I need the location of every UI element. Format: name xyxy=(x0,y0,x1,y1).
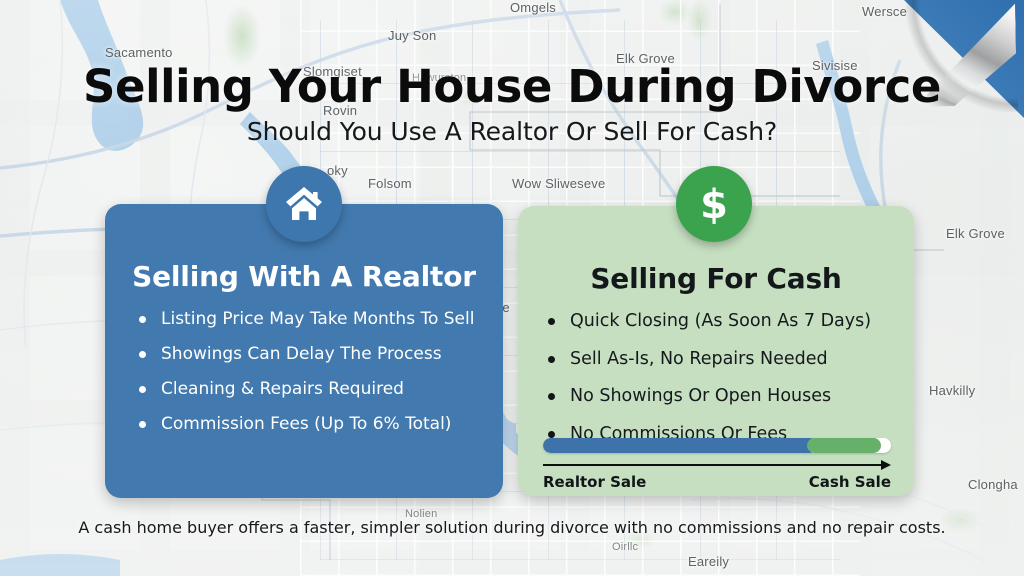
house-icon xyxy=(284,185,324,223)
list-item: Commission Fees (Up To 6% Total) xyxy=(135,416,485,433)
footer-note: A cash home buyer offers a faster, simpl… xyxy=(0,518,1024,537)
timeline-segment-cash xyxy=(807,438,880,453)
map-label: Havkilly xyxy=(929,383,975,398)
bullet-list-realtor: Listing Price May Take Months To Sell Sh… xyxy=(105,311,503,433)
map-label: Juy Son xyxy=(388,28,436,43)
list-item: No Showings Or Open Houses xyxy=(544,388,896,406)
list-item: Listing Price May Take Months To Sell xyxy=(135,311,485,328)
map-label: Elk Grove xyxy=(946,226,1005,241)
map-label: Wow Sliweseve xyxy=(512,176,605,191)
map-label: Oirllc xyxy=(612,541,638,553)
bullet-list-cash: Quick Closing (As Soon As 7 Days) Sell A… xyxy=(518,313,914,443)
map-label: Sacamento xyxy=(105,45,173,60)
card-selling-with-realtor: Selling With A Realtor Listing Price May… xyxy=(105,204,503,498)
map-label: Folsom xyxy=(368,176,412,191)
page-subtitle: Should You Use A Realtor Or Sell For Cas… xyxy=(0,117,1024,146)
map-label: Eareily xyxy=(688,554,729,569)
infographic-canvas: SacamentoJuy SonOmgelsSlomgisetHawurston… xyxy=(0,0,1024,576)
realtor-badge xyxy=(266,166,342,242)
timeline-axis-line xyxy=(543,464,883,466)
sale-timeline: Realtor Sale Cash Sale xyxy=(543,438,891,491)
timeline-label-left: Realtor Sale xyxy=(543,473,646,491)
timeline-bar-track xyxy=(543,438,891,453)
list-item: Showings Can Delay The Process xyxy=(135,346,485,363)
timeline-labels: Realtor Sale Cash Sale xyxy=(543,473,891,491)
page-title: Selling Your House During Divorce xyxy=(0,64,1024,111)
headline-block: Selling Your House During Divorce Should… xyxy=(0,64,1024,146)
list-item: Sell As-Is, No Repairs Needed xyxy=(544,351,896,369)
dollar-icon: $ xyxy=(697,182,731,226)
list-item: Cleaning & Repairs Required xyxy=(135,381,485,398)
list-item: Quick Closing (As Soon As 7 Days) xyxy=(544,313,896,331)
timeline-label-right: Cash Sale xyxy=(809,473,891,491)
map-label: Omgels xyxy=(510,0,556,15)
map-label: Wersce xyxy=(862,4,907,19)
arrow-right-icon xyxy=(881,460,891,470)
map-label: Clongha xyxy=(968,477,1018,492)
timeline-segment-realtor xyxy=(543,438,818,453)
cash-badge: $ xyxy=(676,166,752,242)
svg-text:$: $ xyxy=(700,182,728,226)
timeline-axis xyxy=(543,460,891,470)
